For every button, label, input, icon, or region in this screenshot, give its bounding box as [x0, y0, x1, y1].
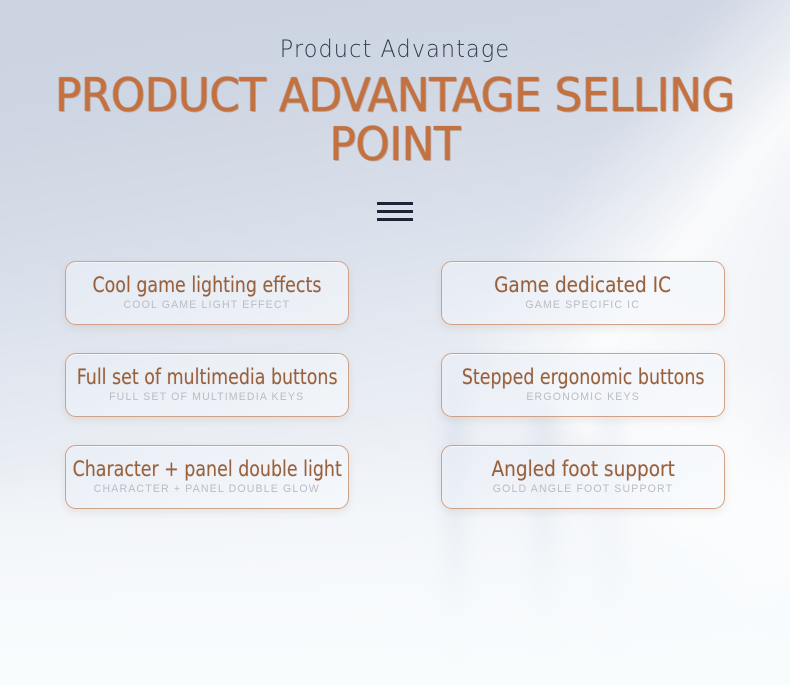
feature-card-title: Stepped ergonomic buttons: [462, 367, 705, 388]
eyebrow-text: Product Advantage: [28, 36, 763, 62]
feature-card-subtitle: GAME SPECIFIC IC: [526, 299, 641, 311]
banner-header: Product Advantage PRODUCT ADVANTAGE SELL…: [0, 0, 790, 168]
feature-card-subtitle: ERGONOMIC KEYS: [526, 391, 640, 403]
feature-card-title: Cool game lighting effects: [93, 275, 322, 296]
divider-bar: [377, 210, 413, 213]
feature-card-full-set-of-multimedia-buttons[interactable]: Full set of multimedia buttons FULL SET …: [65, 353, 349, 417]
product-advantage-banner: Product Advantage PRODUCT ADVANTAGE SELL…: [0, 0, 790, 685]
feature-card-title: Full set of multimedia buttons: [77, 367, 338, 388]
divider-bar: [377, 218, 413, 221]
feature-card-cool-game-lighting-effects[interactable]: Cool game lighting effects COOL GAME LIG…: [65, 261, 349, 325]
divider-bar: [377, 202, 413, 205]
feature-card-subtitle: FULL SET OF MULTIMEDIA KEYS: [109, 391, 304, 403]
feature-card-angled-foot-support[interactable]: Angled foot support GOLD ANGLE FOOT SUPP…: [441, 445, 725, 509]
feature-card-title: Game dedicated IC: [495, 275, 672, 296]
feature-card-title: Character + panel double light: [72, 459, 341, 480]
feature-card-game-dedicated-ic[interactable]: Game dedicated IC GAME SPECIFIC IC: [441, 261, 725, 325]
feature-card-title: Angled foot support: [491, 459, 674, 480]
feature-card-subtitle: COOL GAME LIGHT EFFECT: [124, 299, 291, 311]
feature-card-subtitle: GOLD ANGLE FOOT SUPPORT: [493, 483, 673, 495]
page-title: PRODUCT ADVANTAGE SELLING POINT: [20, 71, 771, 168]
feature-card-character-panel-double-light[interactable]: Character + panel double light CHARACTER…: [65, 445, 349, 509]
feature-card-grid: Cool game lighting effects COOL GAME LIG…: [65, 261, 725, 509]
feature-card-subtitle: CHARACTER + PANEL DOUBLE GLOW: [94, 483, 320, 495]
three-bar-divider-icon: [377, 202, 413, 221]
feature-card-stepped-ergonomic-buttons[interactable]: Stepped ergonomic buttons ERGONOMIC KEYS: [441, 353, 725, 417]
